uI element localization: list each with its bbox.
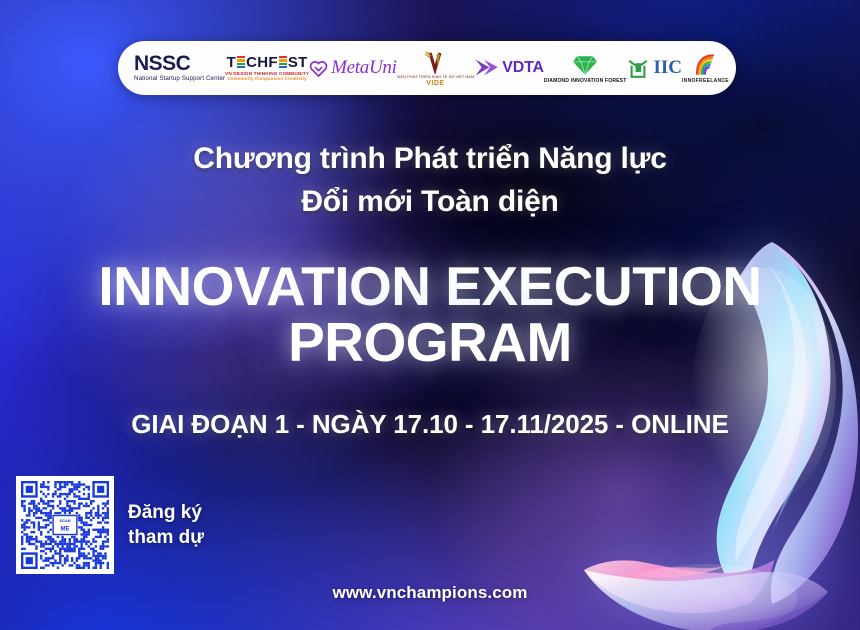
program-phase-date: GIAI ĐOẠN 1 - NGÀY 17.10 - 17.11/2025 - … (0, 409, 860, 440)
logo-innofreelance: INNOFREELANCE (682, 53, 729, 84)
vide-wordmark: VIDE (426, 80, 444, 87)
techfest-e-bars-icon (237, 56, 245, 69)
logo-vdta: VDTA (474, 57, 544, 79)
logo-metauni: MetaUni (309, 57, 396, 79)
vide-emblem-icon (421, 50, 449, 74)
vide-caption-vi: VIỆN PHÁT TRIỂN KINH TẾ SỐ VIỆT NAM (397, 75, 475, 79)
techfest-chf: CHF (246, 55, 278, 70)
nssc-wordmark: NSSC (134, 53, 190, 74)
cta-line-2: tham dự (128, 525, 204, 550)
diamond-gem-icon (572, 53, 598, 77)
qr-code-image[interactable] (21, 481, 109, 569)
qr-code-card[interactable] (16, 476, 114, 574)
metauni-wordmark: MetaUni (331, 57, 396, 79)
cta-line-1: Đăng ký (128, 500, 204, 525)
partner-logo-bar: NSSC National Startup Support Center T C… (118, 41, 736, 95)
nssc-tagline: National Startup Support Center (134, 76, 225, 82)
subheadline-line-1: Chương trình Phát triển Năng lực (193, 142, 666, 175)
metauni-heart-icon (309, 59, 328, 78)
title-line-2: PROGRAM (0, 314, 860, 370)
promotional-banner: NSSC National Startup Support Center T C… (0, 0, 860, 630)
innofreelance-caption: INNOFREELANCE (682, 79, 729, 84)
techfest-st: ST (288, 55, 308, 70)
subheadline-line-2: Đổi mới Toàn diện (0, 181, 860, 224)
program-subheadline: Chương trình Phát triển Năng lực Đổi mới… (0, 138, 860, 223)
diamond-caption: DIAMOND INNOVATION FOREST (544, 79, 627, 84)
logo-diamond-innovation-forest: DIAMOND INNOVATION FOREST (544, 53, 627, 84)
logo-iic: IIC (626, 56, 682, 80)
techfest-e2-bars-icon (279, 56, 287, 69)
registration-cta-text: Đăng ký tham dự (128, 500, 204, 550)
program-title: INNOVATION EXECUTION PROGRAM (0, 258, 860, 370)
techfest-t: T (227, 55, 236, 70)
logo-vide: VIỆN PHÁT TRIỂN KINH TẾ SỐ VIỆT NAM VIDE (397, 50, 475, 87)
innofreelance-fan-icon (692, 53, 718, 77)
website-url[interactable]: www.vnchampions.com (0, 583, 860, 603)
logo-techfest: T CHF ST VN DESIGN THINKING COMMUNITY Co… (225, 55, 309, 82)
techfest-wordmark: T CHF ST (227, 55, 308, 70)
vdta-arrow-icon (474, 57, 500, 79)
iic-wordmark: IIC (653, 57, 682, 79)
iic-mark-icon (626, 56, 650, 80)
registration-block[interactable]: Đăng ký tham dự (16, 476, 204, 574)
vdta-wordmark: VDTA (502, 59, 544, 77)
logo-nssc: NSSC National Startup Support Center (134, 53, 225, 82)
techfest-subtitle-orange: Community Compassion Creativity (228, 77, 307, 81)
title-line-1: INNOVATION EXECUTION (98, 255, 761, 317)
